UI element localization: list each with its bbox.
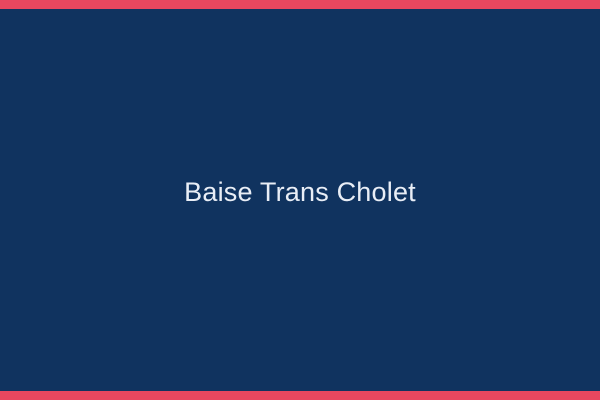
- banner-content-area: Baise Trans Cholet: [0, 9, 600, 391]
- banner-card: Baise Trans Cholet: [0, 0, 600, 400]
- accent-band-top: [0, 0, 600, 9]
- banner-title: Baise Trans Cholet: [184, 176, 416, 224]
- accent-band-bottom: [0, 391, 600, 400]
